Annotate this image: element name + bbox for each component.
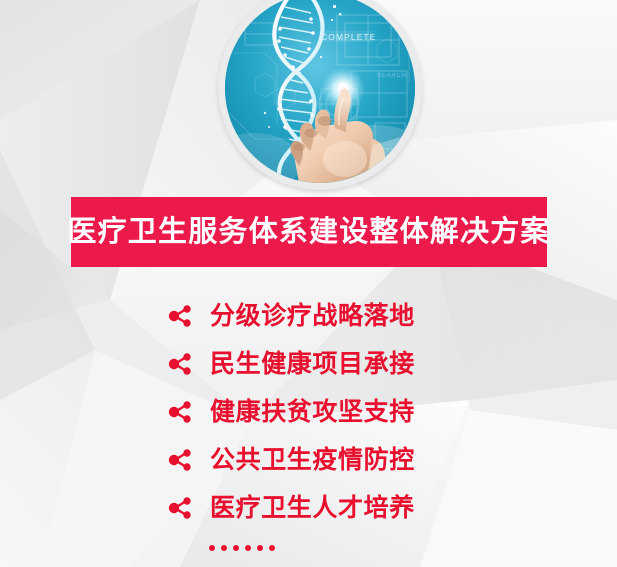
title-banner: 医疗卫生服务体系建设整体解决方案 [71,197,547,267]
feature-list: 分级诊疗战略落地 民生健康项目承接 [168,292,498,532]
list-item[interactable]: 健康扶贫攻坚支持 [168,388,498,436]
hero-overlay-search: SEARCH [377,73,407,79]
hero-image-clip: COMPLETE SEARCH [225,0,415,183]
dna-hand-touch-image: COMPLETE SEARCH [225,0,415,183]
svg-text:COMPLETE: COMPLETE [321,32,377,42]
medical-solution-poster: COMPLETE SEARCH [0,0,617,567]
ellipsis-dot [269,545,275,551]
ellipsis-dot [233,545,239,551]
ellipsis-indicator [209,545,275,551]
molecule-node-icon [168,352,194,376]
molecule-node-icon [168,496,194,520]
list-item-label: 医疗卫生人才培养 [210,496,415,521]
list-item-label: 民生健康项目承接 [210,352,415,377]
ellipsis-dot [257,545,263,551]
ellipsis-dot [221,545,227,551]
ellipsis-dot [245,545,251,551]
list-item[interactable]: 公共卫生疫情防控 [168,436,498,484]
molecule-node-icon [168,400,194,424]
molecule-node-icon [168,304,194,328]
svg-text:SEARCH: SEARCH [377,73,407,79]
molecule-node-icon [168,448,194,472]
hero-overlay-complete: COMPLETE [319,31,377,42]
ellipsis-dot [209,545,215,551]
page-title: 医疗卫生服务体系建设整体解决方案 [67,218,550,247]
list-item[interactable]: 分级诊疗战略落地 [168,292,498,340]
list-item-label: 分级诊疗战略落地 [210,304,415,329]
list-item-label: 健康扶贫攻坚支持 [210,400,415,425]
list-item[interactable]: 民生健康项目承接 [168,340,498,388]
list-item-label: 公共卫生疫情防控 [210,448,415,473]
hero-circle-image: COMPLETE SEARCH [218,0,422,190]
list-item[interactable]: 医疗卫生人才培养 [168,484,498,532]
